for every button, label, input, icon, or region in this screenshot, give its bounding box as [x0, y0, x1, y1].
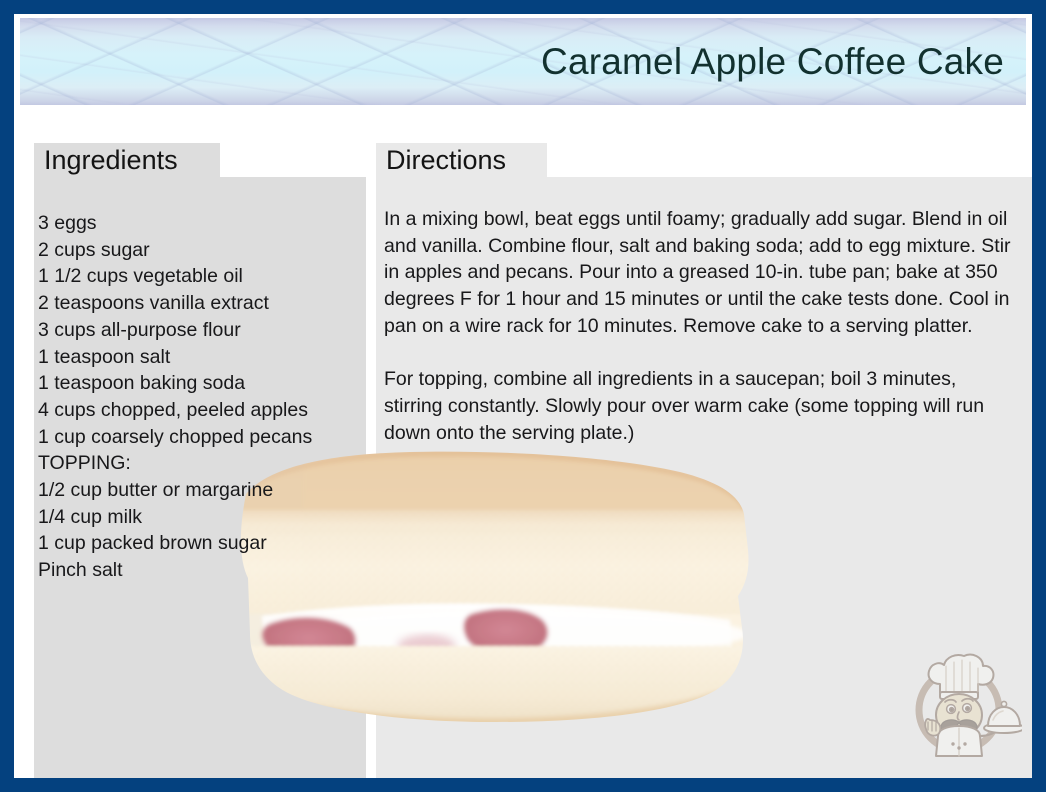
list-item: 1 teaspoon salt — [34, 344, 366, 371]
list-item: 3 cups all-purpose flour — [34, 317, 366, 344]
section-header-ingredients: Ingredients — [34, 143, 220, 177]
list-item: 2 cups sugar — [34, 237, 366, 264]
list-item: 1 teaspoon baking soda — [34, 370, 366, 397]
directions-paragraph: For topping, combine all ingredients in … — [384, 366, 1018, 446]
directions-panel: In a mixing bowl, beat eggs until foamy;… — [376, 177, 1032, 778]
list-item: 1/2 cup butter or margarine — [34, 477, 366, 504]
directions-paragraph: In a mixing bowl, beat eggs until foamy;… — [384, 206, 1018, 340]
card-inner: Caramel Apple Coffee Cake Ingredients Di… — [14, 14, 1032, 778]
recipe-card: Caramel Apple Coffee Cake Ingredients Di… — [0, 0, 1046, 792]
title-banner: Caramel Apple Coffee Cake — [20, 18, 1026, 105]
list-item: TOPPING: — [34, 450, 366, 477]
section-header-directions: Directions — [376, 143, 547, 177]
ingredient-list: 3 eggs 2 cups sugar 1 1/2 cups vegetable… — [34, 177, 366, 584]
list-item: 1 cup coarsely chopped pecans — [34, 424, 366, 451]
list-item: 1 cup packed brown sugar — [34, 530, 366, 557]
directions-body: In a mixing bowl, beat eggs until foamy;… — [376, 177, 1032, 446]
recipe-title: Caramel Apple Coffee Cake — [541, 42, 1004, 79]
list-item: Pinch salt — [34, 557, 366, 584]
list-item: 4 cups chopped, peeled apples — [34, 397, 366, 424]
list-item: 3 eggs — [34, 210, 366, 237]
list-item: 1 1/2 cups vegetable oil — [34, 263, 366, 290]
list-item: 1/4 cup milk — [34, 504, 366, 531]
ingredients-panel: 3 eggs 2 cups sugar 1 1/2 cups vegetable… — [34, 177, 366, 778]
list-item: 2 teaspoons vanilla extract — [34, 290, 366, 317]
